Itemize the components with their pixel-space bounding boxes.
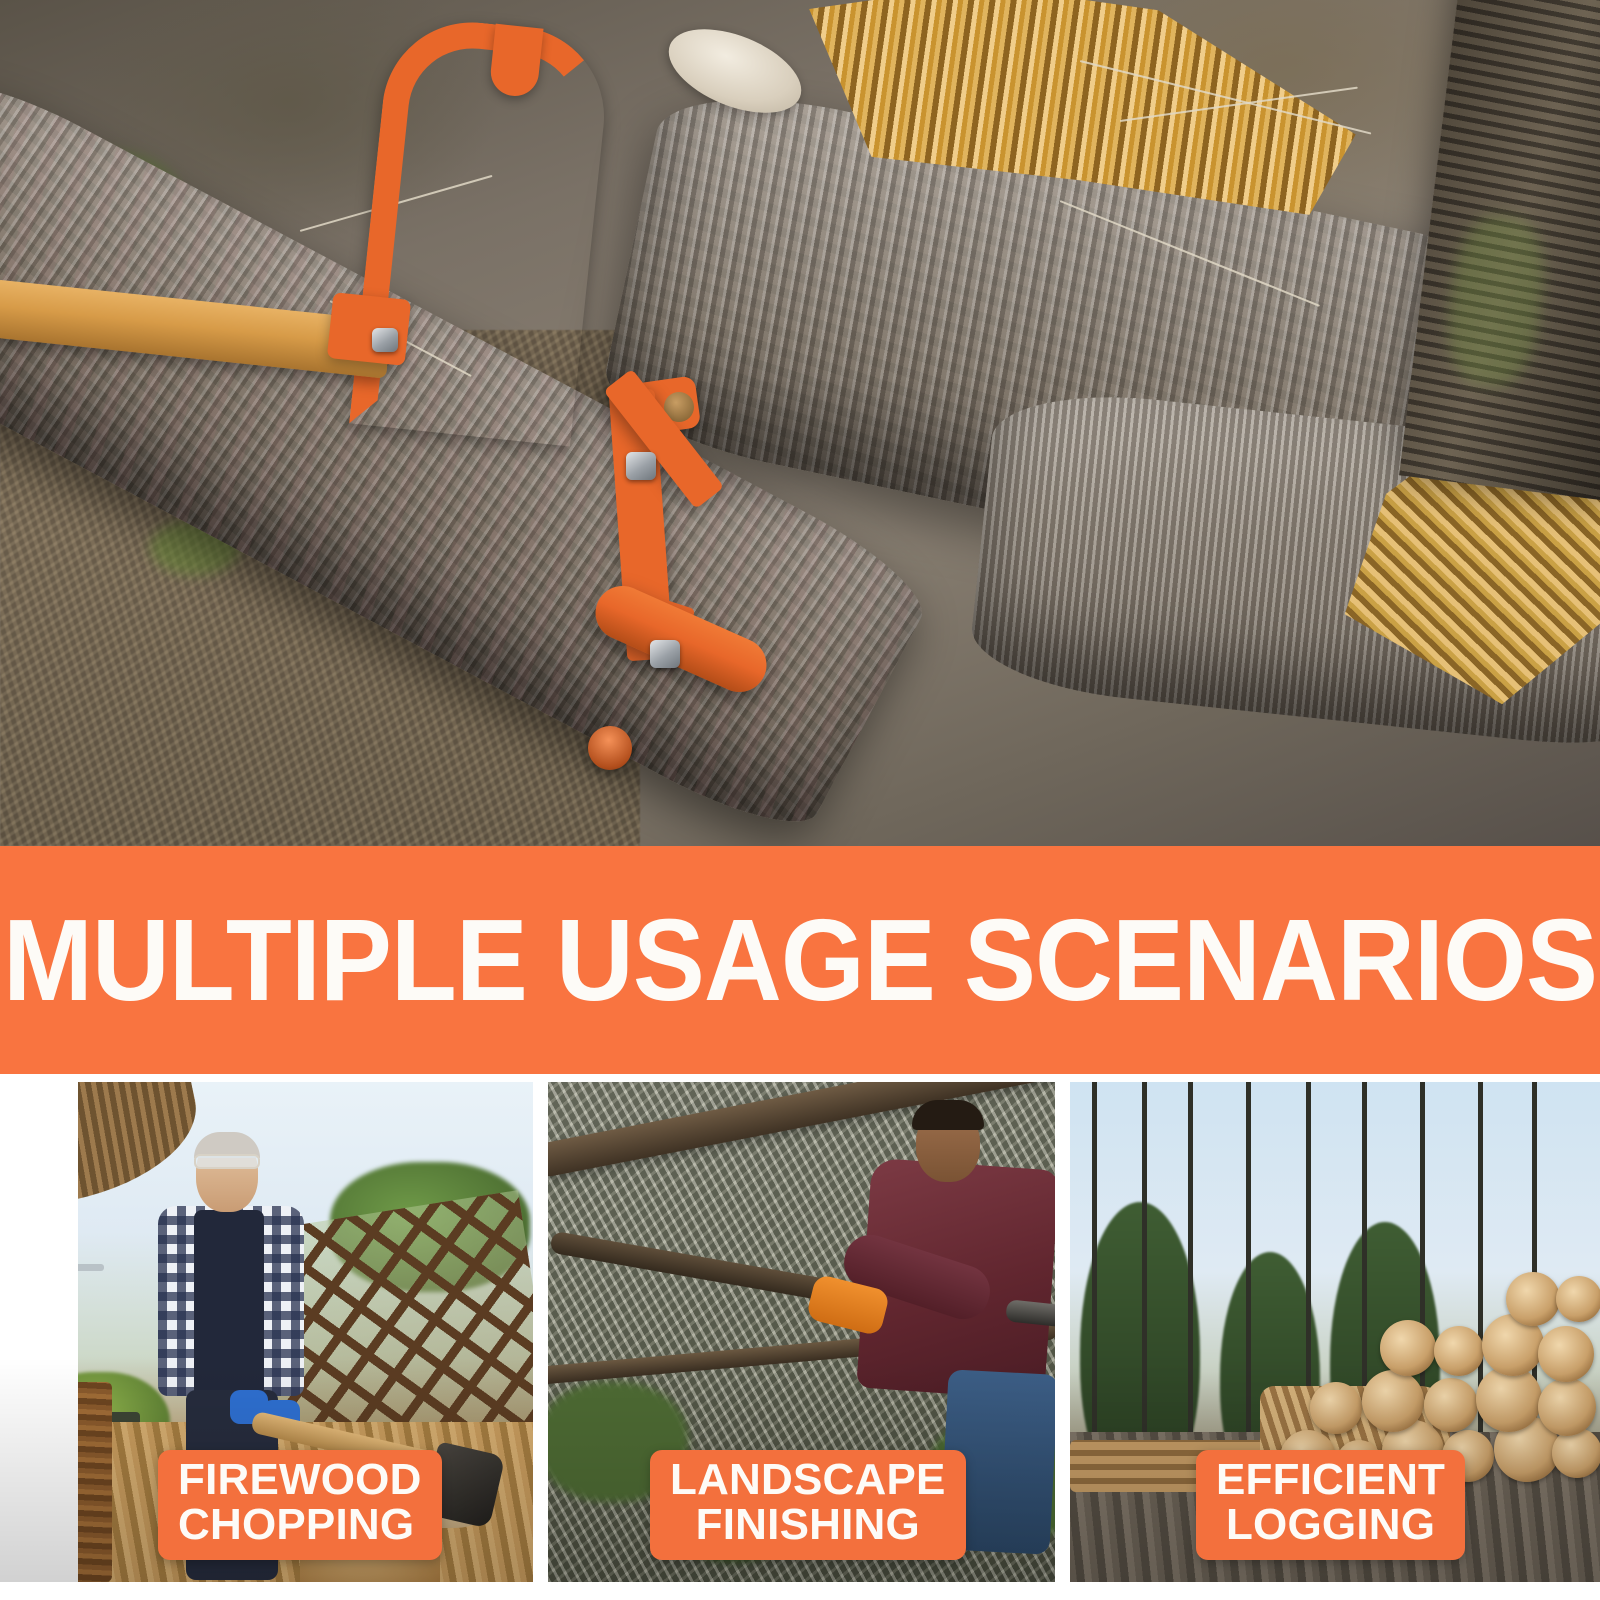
log-lifter-tool — [0, 0, 1600, 846]
hex-bolt-middle — [626, 452, 656, 480]
hex-bolt-lower — [650, 640, 680, 668]
caption-badge-landscape-finishing: LANDSCAPE FINISHING — [650, 1450, 966, 1560]
panel3-bare-tree — [1092, 1082, 1097, 1482]
log-end — [1506, 1272, 1560, 1326]
hero-image — [0, 0, 1600, 846]
product-feature-image: MULTIPLE USAGE SCENARIOS — [0, 0, 1600, 1600]
log-end — [1476, 1366, 1542, 1432]
log-end — [1556, 1276, 1600, 1322]
headline-text: MULTIPLE USAGE SCENARIOS — [3, 902, 1597, 1018]
caption-badge-firewood-chopping: FIREWOOD CHOPPING — [158, 1450, 442, 1560]
handle-socket-bracket — [327, 292, 411, 366]
log-end — [1424, 1378, 1478, 1432]
log-end — [1552, 1428, 1600, 1478]
panel1-overalls — [194, 1210, 264, 1410]
lifting-hook-icon — [349, 14, 613, 447]
hex-bolt-upper — [372, 328, 398, 352]
panel3-bare-tree — [1188, 1082, 1193, 1492]
panel2-hair — [912, 1100, 984, 1130]
log-end — [1362, 1370, 1424, 1432]
log-end — [1434, 1326, 1484, 1376]
log-end — [1538, 1378, 1596, 1436]
t-base-tube-opening — [581, 719, 639, 777]
log-end — [1380, 1320, 1436, 1376]
log-end — [1310, 1382, 1362, 1434]
panel3-bare-tree — [1142, 1082, 1147, 1462]
safety-goggles-icon — [194, 1154, 260, 1169]
caption-badge-efficient-logging: EFFICIENT LOGGING — [1196, 1450, 1465, 1560]
headline-banner: MULTIPLE USAGE SCENARIOS — [0, 846, 1600, 1074]
panel3-bare-tree — [1246, 1082, 1251, 1442]
panel1-white-margin — [0, 1082, 78, 1582]
log-end — [1538, 1326, 1594, 1382]
t-base-tube — [587, 577, 775, 700]
